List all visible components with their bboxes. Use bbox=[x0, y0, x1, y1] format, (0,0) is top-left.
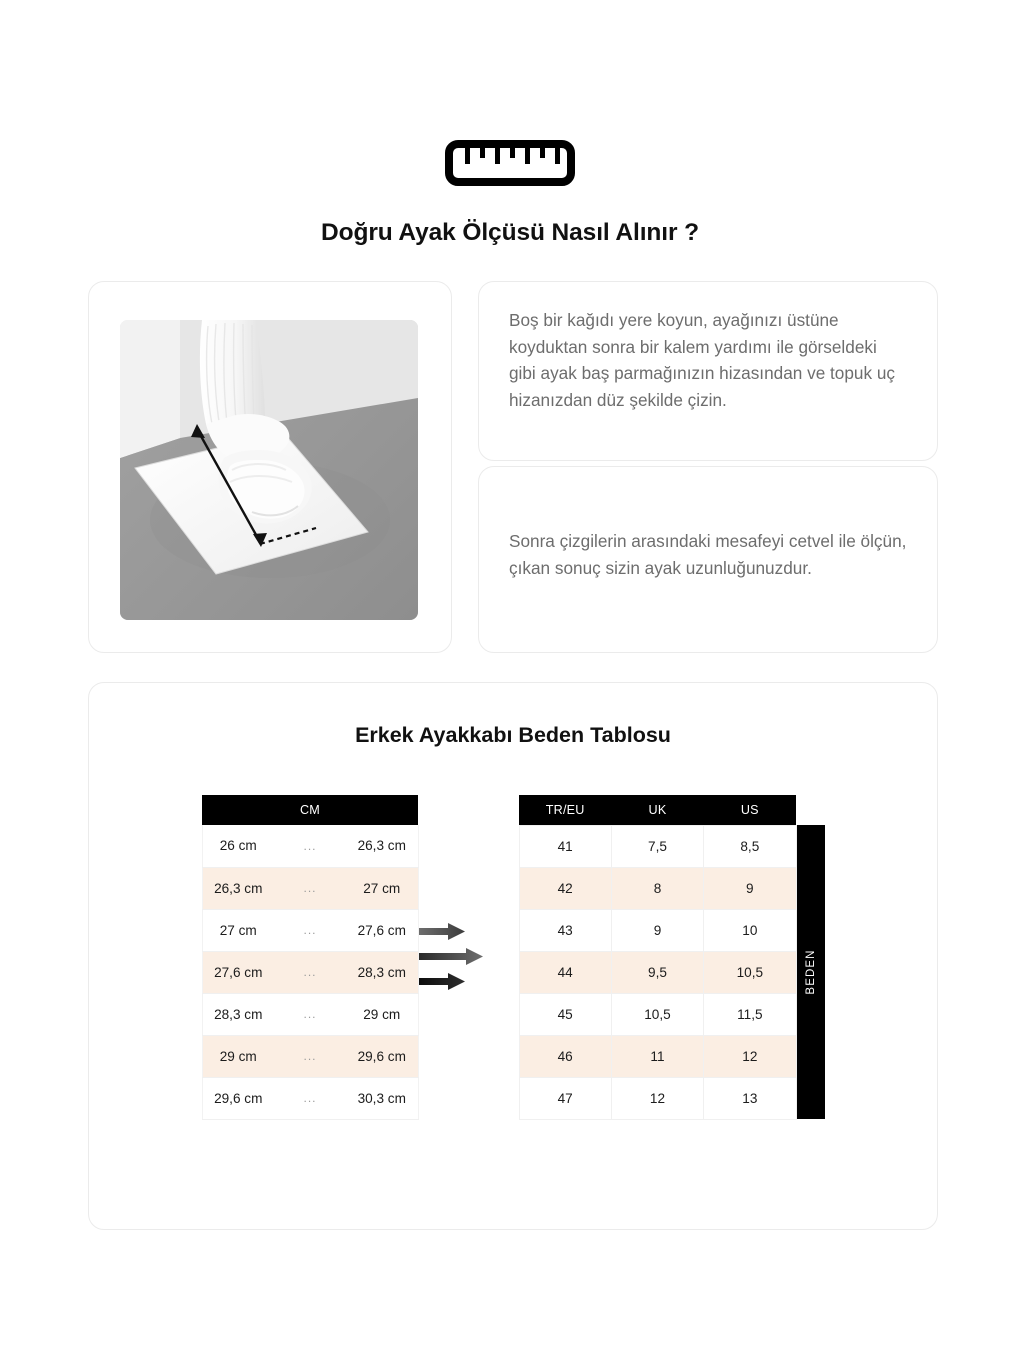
header-treu: TR/EU bbox=[519, 795, 611, 825]
size-tables-row: CM 26 cm ... 26,3 cm 26,3 cm ... 27 cm bbox=[89, 795, 937, 1120]
cell-uk: 10,5 bbox=[611, 993, 703, 1035]
ruler-icon-container bbox=[0, 140, 1020, 186]
header-uk: UK bbox=[611, 795, 703, 825]
size-conversion-table: TR/EU UK US 41 7,5 8,5 42 8 bbox=[519, 795, 797, 1120]
cm-dots: ... bbox=[274, 951, 346, 993]
table-row: 44 9,5 10,5 bbox=[519, 951, 796, 993]
header-us: US bbox=[704, 795, 796, 825]
table-row: 28,3 cm ... 29 cm bbox=[202, 993, 418, 1035]
cell-us: 8,5 bbox=[704, 825, 796, 867]
cm-dots: ... bbox=[274, 909, 346, 951]
cell-us: 11,5 bbox=[704, 993, 796, 1035]
cm-header-cell: CM bbox=[202, 795, 418, 825]
cm-low: 26 cm bbox=[202, 825, 274, 867]
cell-uk: 8 bbox=[611, 867, 703, 909]
conversion-arrows bbox=[419, 795, 519, 990]
foot-measure-photo bbox=[120, 320, 418, 620]
cm-low: 26,3 cm bbox=[202, 867, 274, 909]
cell-treu: 44 bbox=[519, 951, 611, 993]
cm-high: 30,3 cm bbox=[346, 1077, 418, 1119]
cell-uk: 11 bbox=[611, 1035, 703, 1077]
beden-side-bar: BEDEN bbox=[797, 825, 825, 1119]
cm-dots: ... bbox=[274, 1077, 346, 1119]
table-row: 29 cm ... 29,6 cm bbox=[202, 1035, 418, 1077]
cm-table-header-row: CM bbox=[202, 795, 418, 825]
cm-low: 29 cm bbox=[202, 1035, 274, 1077]
cell-uk: 9,5 bbox=[611, 951, 703, 993]
table-row: 27,6 cm ... 28,3 cm bbox=[202, 951, 418, 993]
arrow-right-icon bbox=[419, 948, 483, 965]
cm-low: 27,6 cm bbox=[202, 951, 274, 993]
table-row: 43 9 10 bbox=[519, 909, 796, 951]
cell-treu: 42 bbox=[519, 867, 611, 909]
cell-uk: 7,5 bbox=[611, 825, 703, 867]
table-row: 45 10,5 11,5 bbox=[519, 993, 796, 1035]
cm-dots: ... bbox=[274, 825, 346, 867]
cell-uk: 9 bbox=[611, 909, 703, 951]
cell-us: 10 bbox=[704, 909, 796, 951]
table-row: 26 cm ... 26,3 cm bbox=[202, 825, 418, 867]
ruler-icon bbox=[445, 140, 575, 186]
cell-treu: 43 bbox=[519, 909, 611, 951]
instruction-text-1: Boş bir kağıdı yere koyun, ayağınızı üst… bbox=[509, 307, 907, 413]
cell-us: 12 bbox=[704, 1035, 796, 1077]
cell-treu: 47 bbox=[519, 1077, 611, 1119]
cm-high: 29 cm bbox=[346, 993, 418, 1035]
table-row: 47 12 13 bbox=[519, 1077, 796, 1119]
cell-treu: 41 bbox=[519, 825, 611, 867]
table-row: 26,3 cm ... 27 cm bbox=[202, 867, 418, 909]
table-row: 29,6 cm ... 30,3 cm bbox=[202, 1077, 418, 1119]
table-row: 27 cm ... 27,6 cm bbox=[202, 909, 418, 951]
foot-on-paper-illustration bbox=[120, 320, 418, 620]
size-table-header-row: TR/EU UK US bbox=[519, 795, 796, 825]
page-title: Doğru Ayak Ölçüsü Nasıl Alınır ? bbox=[0, 219, 1020, 247]
cm-high: 28,3 cm bbox=[346, 951, 418, 993]
cm-dots: ... bbox=[274, 867, 346, 909]
table-row: 42 8 9 bbox=[519, 867, 796, 909]
cell-uk: 12 bbox=[611, 1077, 703, 1119]
cell-us: 9 bbox=[704, 867, 796, 909]
table-row: 46 11 12 bbox=[519, 1035, 796, 1077]
cell-us: 10,5 bbox=[704, 951, 796, 993]
cm-low: 29,6 cm bbox=[202, 1077, 274, 1119]
cm-range-table: CM 26 cm ... 26,3 cm 26,3 cm ... 27 cm bbox=[202, 795, 419, 1120]
beden-label: BEDEN bbox=[805, 949, 817, 994]
cm-low: 27 cm bbox=[202, 909, 274, 951]
size-guide-page: Doğru Ayak Ölçüsü Nasıl Alınır ? bbox=[0, 0, 1020, 1360]
size-table-title: Erkek Ayakkabı Beden Tablosu bbox=[89, 723, 937, 748]
instruction-card-1: Boş bir kağıdı yere koyun, ayağınızı üst… bbox=[478, 281, 938, 461]
arrow-right-icon bbox=[419, 923, 465, 940]
table-row: 41 7,5 8,5 bbox=[519, 825, 796, 867]
cm-dots: ... bbox=[274, 1035, 346, 1077]
cell-treu: 46 bbox=[519, 1035, 611, 1077]
cm-high: 26,3 cm bbox=[346, 825, 418, 867]
cm-high: 29,6 cm bbox=[346, 1035, 418, 1077]
cm-low: 28,3 cm bbox=[202, 993, 274, 1035]
cell-us: 13 bbox=[704, 1077, 796, 1119]
instruction-card-2: Sonra çizgilerin arasındaki mesafeyi cet… bbox=[478, 466, 938, 653]
illustration-card bbox=[88, 281, 452, 653]
cell-treu: 45 bbox=[519, 993, 611, 1035]
cm-dots: ... bbox=[274, 993, 346, 1035]
size-conversion-wrap: TR/EU UK US 41 7,5 8,5 42 8 bbox=[519, 795, 825, 1120]
arrow-right-icon bbox=[419, 973, 465, 990]
cm-high: 27,6 cm bbox=[346, 909, 418, 951]
instruction-text-2: Sonra çizgilerin arasındaki mesafeyi cet… bbox=[509, 528, 907, 581]
size-table-card: Erkek Ayakkabı Beden Tablosu CM 26 cm ..… bbox=[88, 682, 938, 1230]
cm-high: 27 cm bbox=[346, 867, 418, 909]
